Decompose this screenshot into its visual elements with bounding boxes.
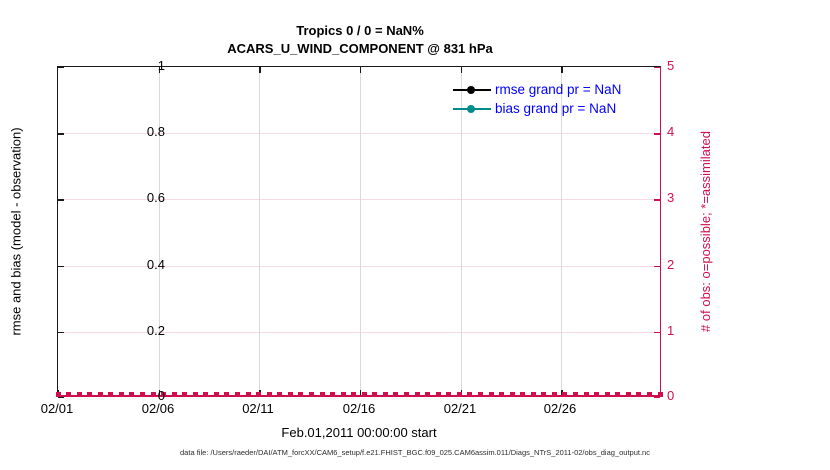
obs-count-marker	[330, 392, 335, 397]
y-axis-label-right-3: 3	[667, 190, 674, 205]
chart-legend: rmse grand pr = NaN bias grand pr = NaN	[451, 79, 623, 119]
chart-subtitle: ACARS_U_WIND_COMPONENT @ 831 hPa	[0, 40, 720, 58]
y-axis-label-left-1: 1	[158, 58, 165, 73]
y-axis-tick-left	[58, 397, 64, 398]
obs-count-marker	[605, 392, 610, 397]
obs-count-marker	[87, 392, 92, 397]
x-axis-tick	[360, 390, 361, 396]
obs-count-marker	[320, 392, 325, 397]
obs-count-marker	[277, 392, 282, 397]
x-axis-label-4: 02/16	[329, 401, 389, 416]
obs-count-marker	[246, 392, 251, 397]
obs-count-marker	[140, 392, 145, 397]
obs-count-marker	[182, 392, 187, 397]
obs-count-marker	[562, 392, 567, 397]
data-file-caption: data file: /Users/raeder/DAI/ATM_forcXX/…	[0, 448, 830, 457]
obs-count-marker	[584, 392, 589, 397]
x-axis-tick-top	[259, 67, 260, 73]
y-axis-label-left-4: 0.4	[147, 257, 165, 272]
obs-count-marker	[108, 392, 113, 397]
x-axis-tick-top	[561, 67, 562, 73]
y-axis-tick-right	[654, 199, 660, 200]
obs-count-marker	[647, 392, 652, 397]
y-axis-tick-right	[654, 397, 660, 398]
obs-count-marker	[203, 392, 208, 397]
y-axis-tick-left	[58, 199, 64, 200]
obs-count-marker	[193, 392, 198, 397]
obs-count-marker	[510, 392, 515, 397]
y-axis-tick-right	[654, 266, 660, 267]
obs-count-marker	[288, 392, 293, 397]
y-axis-tick-right	[654, 67, 660, 68]
y-axis-label-right-2: 4	[667, 124, 674, 139]
x-axis-tick-top	[360, 67, 361, 73]
y-axis-tick-left	[58, 67, 64, 68]
legend-marker-bias-icon	[453, 103, 491, 115]
obs-count-marker	[267, 392, 272, 397]
x-axis-label-6: 02/26	[530, 401, 590, 416]
obs-count-marker	[425, 392, 430, 397]
y-axis-tick-left	[58, 266, 64, 267]
y-axis-label-left-5: 0.2	[147, 323, 165, 338]
obs-count-marker	[615, 392, 620, 397]
page-title: Tropics 0 / 0 = NaN%	[0, 22, 720, 40]
obs-count-marker	[636, 392, 641, 397]
obs-count-marker	[341, 392, 346, 397]
obs-count-marker	[235, 392, 240, 397]
obs-count-marker	[383, 392, 388, 397]
y-axis-label-left-2: 0.8	[147, 124, 165, 139]
x-axis-label-5: 02/21	[430, 401, 490, 416]
y-axis-label-right-6: 0	[667, 388, 674, 403]
obs-count-marker	[362, 392, 367, 397]
obs-count-marker	[172, 392, 177, 397]
legend-label-rmse: rmse grand pr = NaN	[495, 82, 621, 97]
y-axis-title-left-text: rmse and bias (model - observation)	[9, 127, 24, 335]
obs-count-marker	[541, 392, 546, 397]
y-axis-title-left: rmse and bias (model - observation)	[7, 66, 25, 397]
obs-count-marker	[531, 392, 536, 397]
x-axis-tick	[58, 390, 59, 396]
y-axis-title-right-text: # of obs: o=possible; *=assimilated	[698, 131, 713, 332]
obs-count-marker	[520, 392, 525, 397]
legend-label-bias: bias grand pr = NaN	[495, 101, 616, 116]
y-axis-label-left-3: 0.6	[147, 190, 165, 205]
obs-count-marker	[77, 392, 82, 397]
obs-count-marker	[393, 392, 398, 397]
obs-count-marker	[372, 392, 377, 397]
obs-count-marker	[415, 392, 420, 397]
y-axis-label-right-4: 2	[667, 257, 674, 272]
obs-count-marker	[129, 392, 134, 397]
obs-count-marker	[351, 392, 356, 397]
obs-count-marker	[66, 392, 71, 397]
obs-count-marker	[98, 392, 103, 397]
x-axis-label-1: 02/01	[27, 401, 87, 416]
obs-count-marker	[404, 392, 409, 397]
obs-count-marker	[298, 392, 303, 397]
x-axis-tick	[461, 390, 462, 396]
y-axis-tick-left	[58, 332, 64, 333]
gridline-vertical	[360, 67, 361, 396]
obs-count-marker	[309, 392, 314, 397]
y-axis-tick-right	[654, 332, 660, 333]
y-axis-label-right-1: 5	[667, 58, 674, 73]
x-axis-tick-top	[461, 67, 462, 73]
obs-count-marker	[467, 392, 472, 397]
obs-count-marker	[436, 392, 441, 397]
obs-count-marker	[478, 392, 483, 397]
gridline-vertical	[159, 67, 160, 396]
chart-title-block: Tropics 0 / 0 = NaN% ACARS_U_WIND_COMPON…	[0, 22, 720, 58]
obs-count-marker	[151, 392, 156, 397]
obs-count-marker	[552, 392, 557, 397]
y-axis-title-right: # of obs: o=possible; *=assimilated	[696, 66, 714, 397]
x-axis-tick	[259, 390, 260, 396]
obs-count-marker	[573, 392, 578, 397]
legend-marker-rmse-icon	[453, 84, 491, 96]
obs-count-marker	[224, 392, 229, 397]
obs-count-marker	[499, 392, 504, 397]
legend-item-rmse[interactable]: rmse grand pr = NaN	[453, 80, 621, 99]
y-axis-tick-left	[58, 133, 64, 134]
obs-count-marker	[214, 392, 219, 397]
y-axis-label-right-5: 1	[667, 323, 674, 338]
obs-count-marker	[119, 392, 124, 397]
obs-count-marker	[446, 392, 451, 397]
x-axis-label-2: 02/06	[128, 401, 188, 416]
y-axis-tick-right	[654, 133, 660, 134]
gridline-vertical	[259, 67, 260, 396]
obs-count-marker	[594, 392, 599, 397]
legend-item-bias[interactable]: bias grand pr = NaN	[453, 99, 621, 118]
obs-count-marker	[489, 392, 494, 397]
x-axis-label-3: 02/11	[228, 401, 288, 416]
x-axis-tick	[561, 390, 562, 396]
obs-count-line	[58, 395, 660, 397]
obs-count-marker	[626, 392, 631, 397]
x-axis-title: Feb.01,2011 00:00:00 start	[57, 425, 661, 440]
